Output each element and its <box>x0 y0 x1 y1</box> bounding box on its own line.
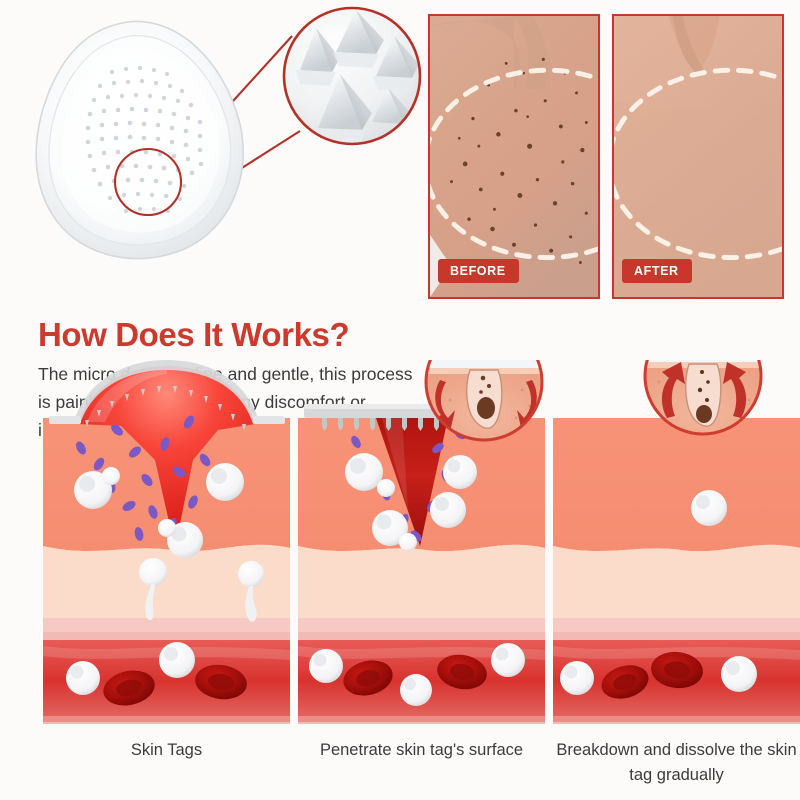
infographic-stage: BEFORE AFTER How Does It Works? <box>0 0 800 800</box>
before-after-comparison: BEFORE AFTER <box>425 14 800 306</box>
before-badge: BEFORE <box>438 259 519 283</box>
panel-skin-tags: Skin Tags <box>43 360 290 800</box>
panel-2-caption: Penetrate skin tag's surface <box>290 738 553 763</box>
panel-1-svg <box>43 360 290 740</box>
micro-dart-patch <box>36 21 243 258</box>
after-photo-card: AFTER <box>612 14 784 299</box>
product-svg <box>0 0 425 300</box>
before-photo <box>430 16 598 297</box>
after-photo <box>614 16 782 297</box>
panel-3-caption: Breakdown and dissolve the skin tag grad… <box>545 738 800 788</box>
panel-breakdown: Breakdown and dissolve the skin tag grad… <box>553 360 800 800</box>
product-illustration <box>0 0 425 300</box>
panel-3-svg <box>553 360 800 740</box>
panel-2-svg <box>298 360 545 740</box>
panel-1-caption: Skin Tags <box>35 738 298 763</box>
after-badge: AFTER <box>622 259 692 283</box>
magnified-micro-darts <box>284 8 420 146</box>
before-photo-card: BEFORE <box>428 14 600 299</box>
panel-penetrate: Penetrate skin tag's surface <box>298 360 545 800</box>
page-title: How Does It Works? <box>38 316 349 354</box>
mechanism-panels: Skin Tags <box>0 360 800 800</box>
